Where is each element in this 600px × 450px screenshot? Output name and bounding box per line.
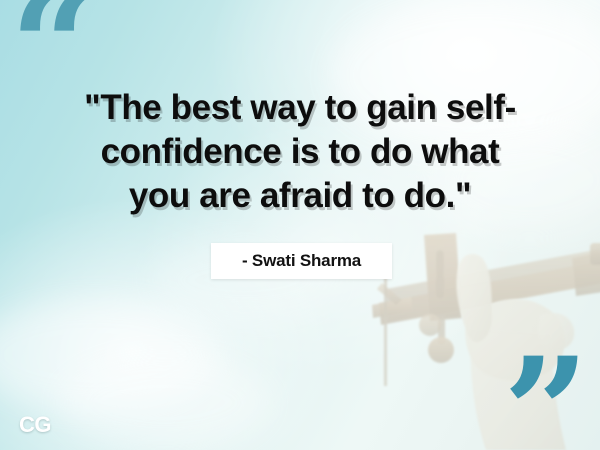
closing-quote-icon: ” bbox=[503, 338, 589, 450]
attribution-box: - Swati Sharma bbox=[211, 243, 392, 279]
watermark-logo: CG bbox=[19, 412, 51, 438]
quote-text: "The best way to gain self- confidence i… bbox=[22, 86, 578, 218]
quote-poster: “ "The best way to gain self- confidence… bbox=[0, 0, 600, 450]
attribution-label: - Swati Sharma bbox=[242, 251, 361, 271]
